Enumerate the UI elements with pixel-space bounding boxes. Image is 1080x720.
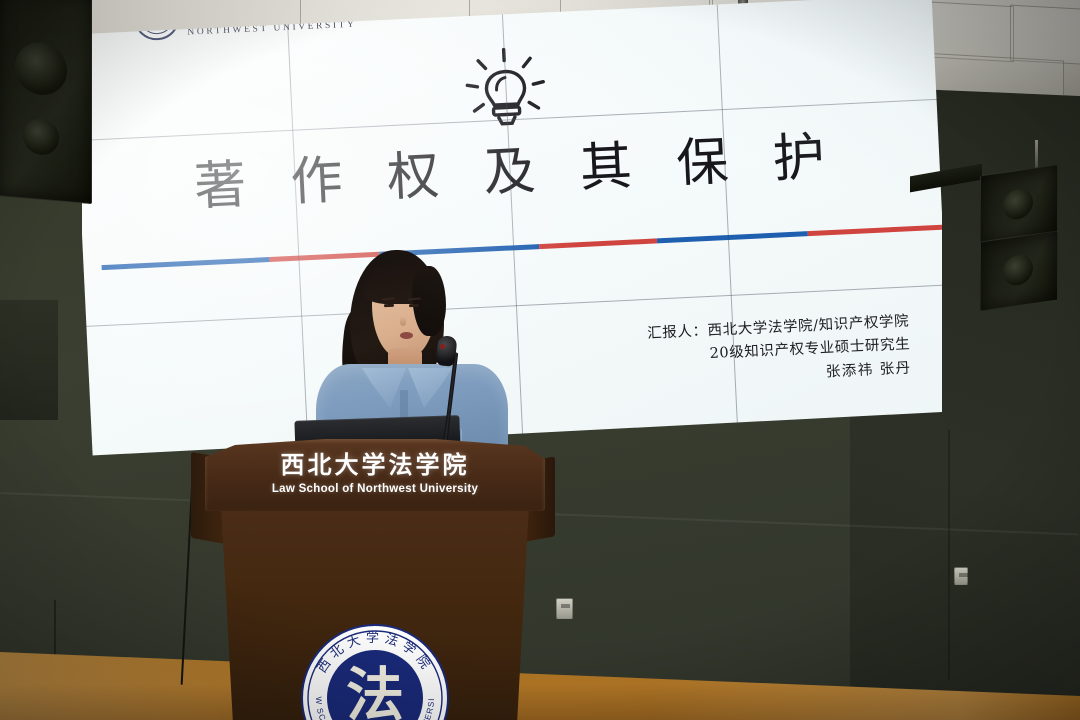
podium-lectern-top xyxy=(205,439,545,511)
lecture-hall-scene: 西北大学 NORTHWEST UNIVERSITY xyxy=(0,0,1080,720)
microphone-indicator xyxy=(440,344,445,349)
wall-speaker-icon xyxy=(0,0,92,204)
podium: 西北大学法学院 LAW SCHOOL OF NORTHWEST UNIVERSI… xyxy=(205,439,545,720)
wall-speaker-icon xyxy=(980,231,1058,312)
divider-segment xyxy=(808,225,943,236)
microphone-icon[interactable] xyxy=(435,335,457,367)
divider-segment xyxy=(102,257,270,270)
mouth xyxy=(400,332,413,339)
eye xyxy=(409,304,419,308)
nose xyxy=(400,316,406,326)
wall-outlet-icon xyxy=(954,567,968,585)
podium-body: 西北大学法学院 LAW SCHOOL OF NORTHWEST UNIVERSI… xyxy=(221,505,529,720)
hair-side xyxy=(412,266,446,336)
svg-text:法: 法 xyxy=(346,661,404,720)
wall-seam-vertical xyxy=(948,430,950,680)
law-school-emblem-icon: 西北大学法学院 LAW SCHOOL OF NORTHWEST UNIVERSI… xyxy=(300,623,450,720)
eye xyxy=(384,304,394,308)
wall-outlet-icon xyxy=(556,598,573,619)
divider-segment xyxy=(657,231,809,243)
slide-presenter-block: 汇报人：西北大学法学院/知识产权学院 20级知识产权专业硕士研究生 张添祎 张丹 xyxy=(647,310,912,393)
wall-vent xyxy=(0,300,58,420)
divider-segment xyxy=(539,238,657,249)
